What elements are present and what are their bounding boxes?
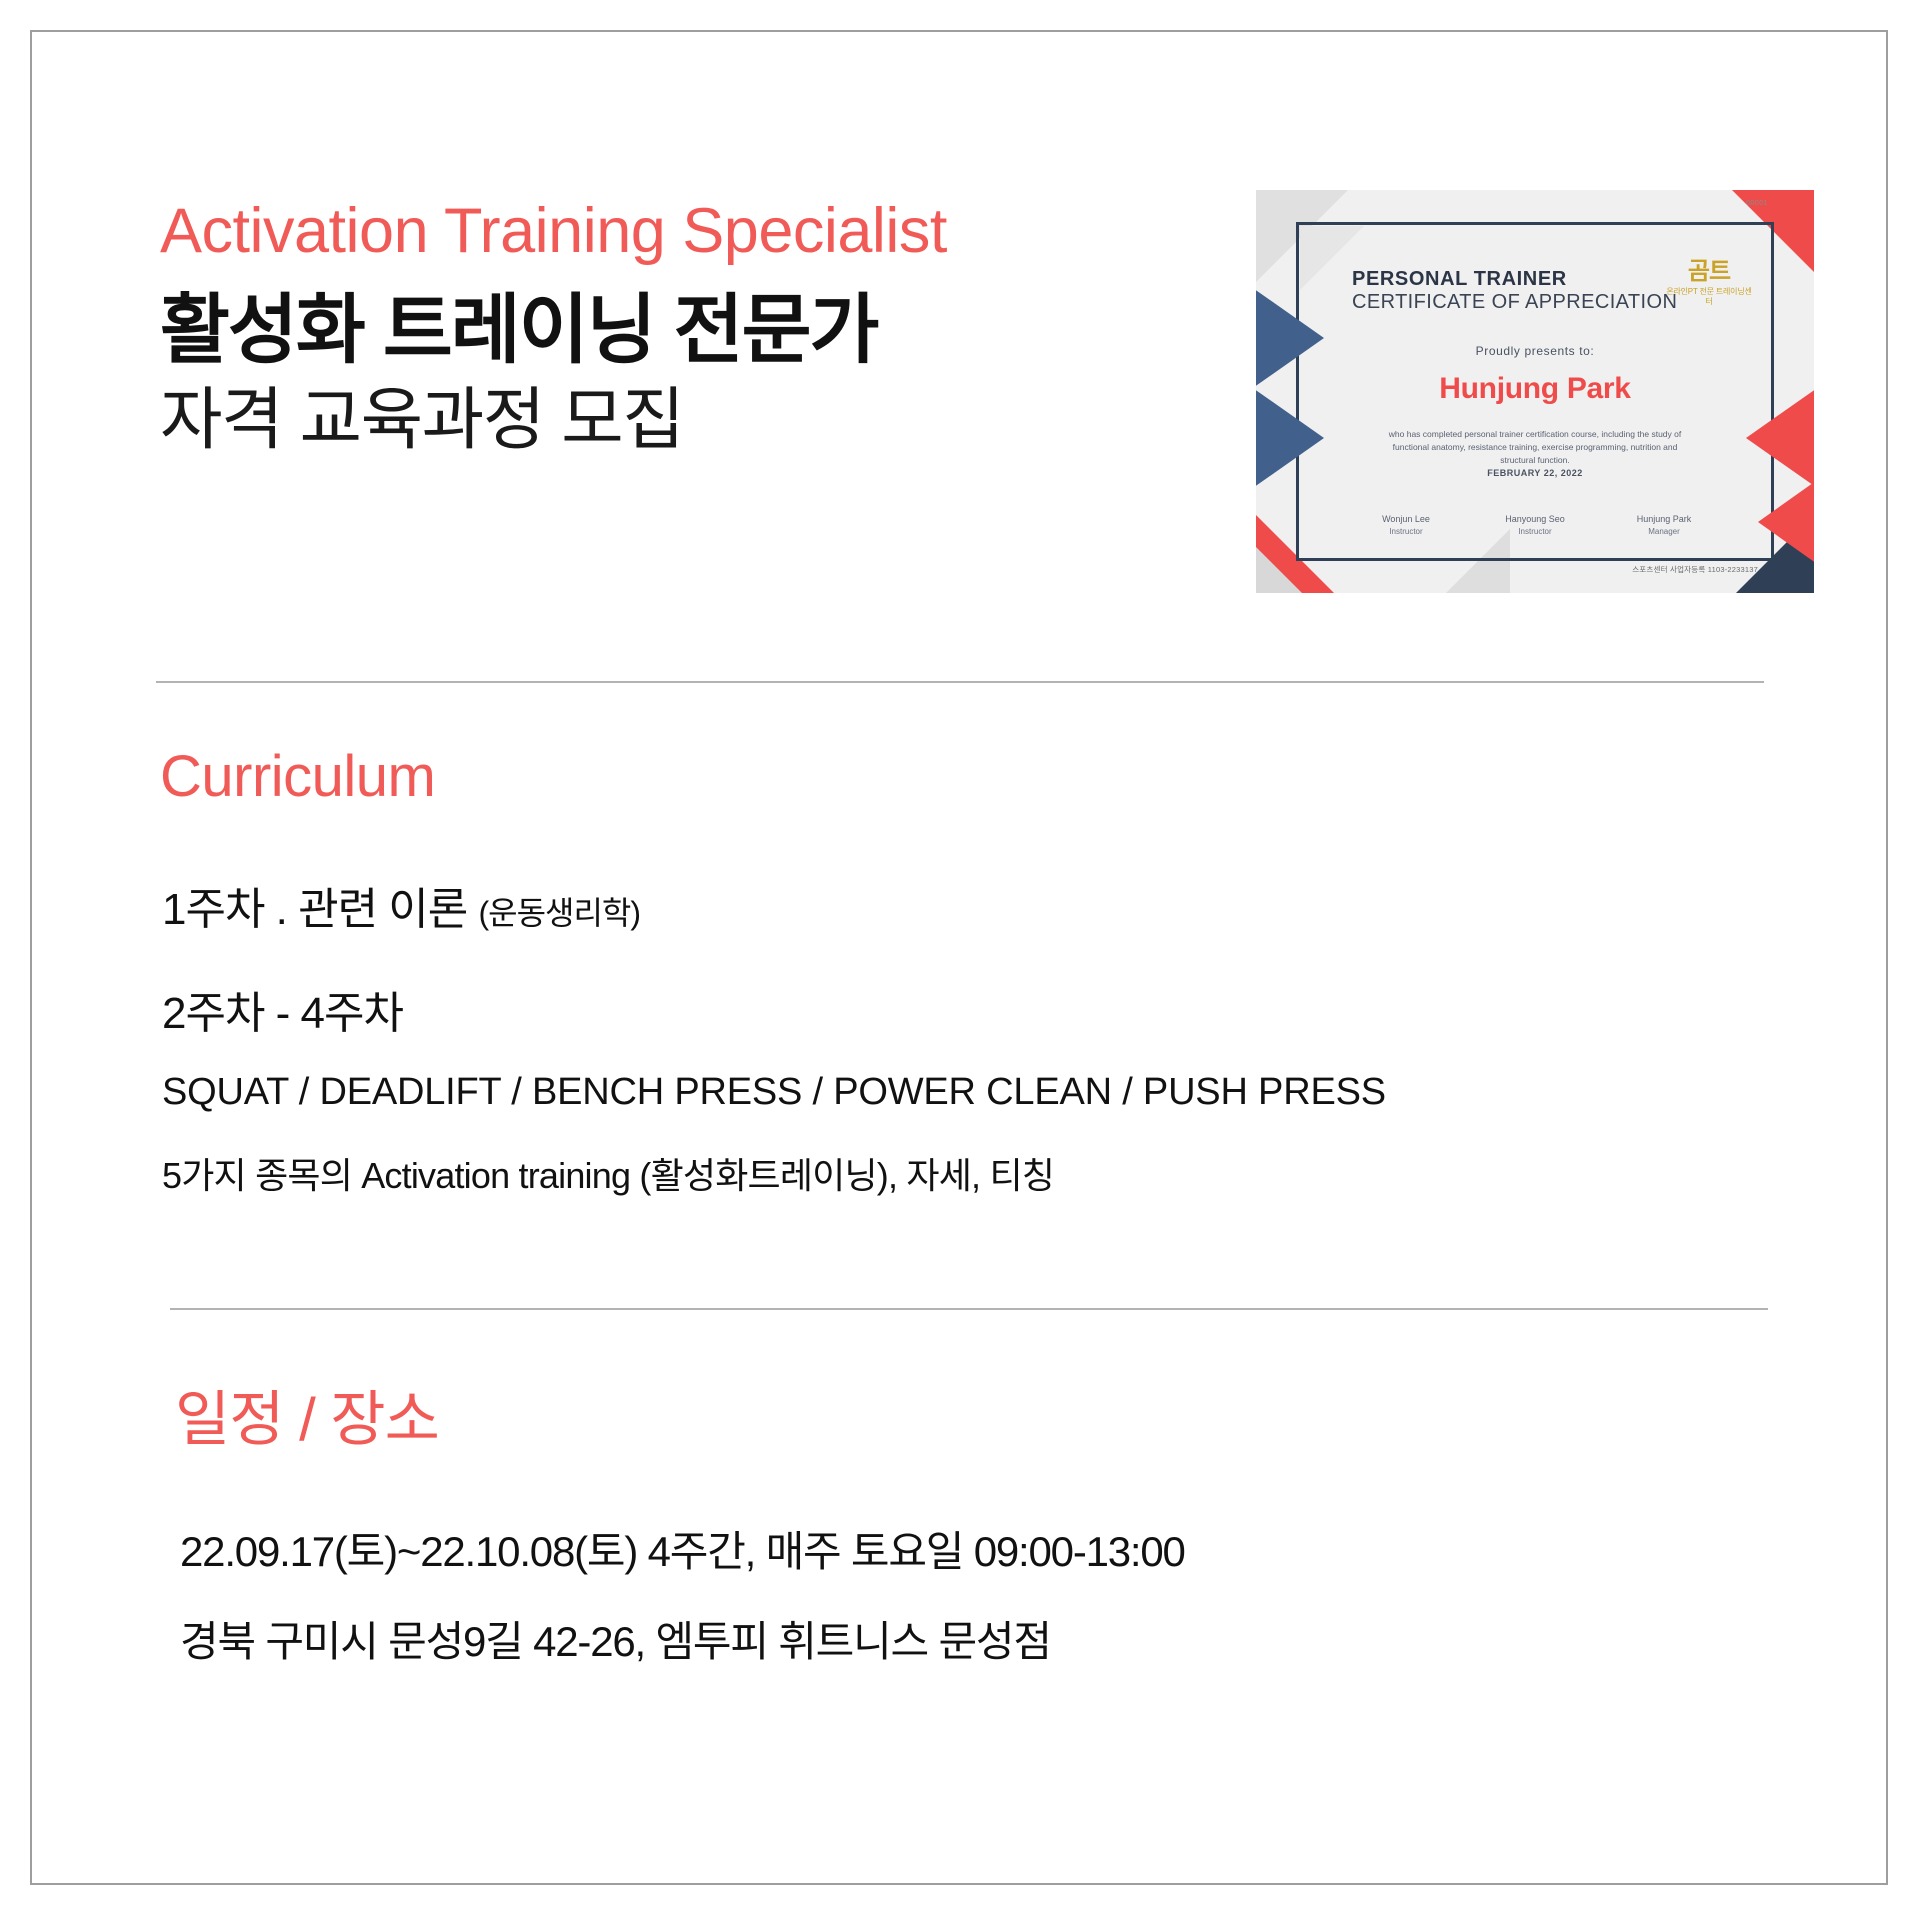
page-title-english: Activation Training Specialist bbox=[160, 200, 1160, 263]
certificate-body-text: who has completed personal trainer certi… bbox=[1376, 428, 1694, 466]
curriculum-week1-main: 1주차 . 관련 이론 bbox=[162, 885, 478, 934]
page-title-korean-sub: 자격 교육과정 모집 bbox=[160, 380, 1160, 460]
certificate-heading-line1: PERSONAL TRAINER bbox=[1352, 268, 1677, 291]
certificate-signature-row: Wonjun Lee Instructor Hanyoung Seo Instr… bbox=[1346, 512, 1724, 539]
curriculum-heading: Curriculum bbox=[160, 748, 435, 806]
certificate-signature: Hanyoung Seo Instructor bbox=[1475, 512, 1595, 539]
signature-name: Hanyoung Seo bbox=[1475, 512, 1595, 526]
poster-canvas: Activation Training Specialist 활성화 트레이닝 … bbox=[0, 0, 1920, 1920]
section-divider-bottom bbox=[170, 1308, 1768, 1310]
certificate-image: 00001 PERSONAL TRAINER CERTIFICATE OF AP… bbox=[1256, 190, 1814, 593]
schedule-heading: 일정 / 장소 bbox=[175, 1390, 439, 1450]
brand-logo-mark: 곰트 bbox=[1666, 260, 1752, 284]
signature-role: Instructor bbox=[1346, 526, 1466, 539]
brand-logo-subtext: 온라인PT 전문 트레이닝센터 bbox=[1666, 287, 1752, 306]
certificate-signature: Wonjun Lee Instructor bbox=[1346, 512, 1466, 539]
signature-name: Hunjung Park bbox=[1604, 512, 1724, 526]
curriculum-week1-paren: (운동생리학) bbox=[478, 895, 640, 931]
certificate-signature: Hunjung Park Manager bbox=[1604, 512, 1724, 539]
curriculum-lift-list: SQUAT / DEADLIFT / BENCH PRESS / POWER C… bbox=[162, 1071, 1386, 1114]
certificate-recipient-name: Hunjung Park bbox=[1256, 372, 1814, 406]
certificate-presents-label: Proudly presents to: bbox=[1256, 344, 1814, 358]
poster-header: Activation Training Specialist 활성화 트레이닝 … bbox=[160, 200, 1160, 460]
signature-role: Instructor bbox=[1475, 526, 1595, 539]
schedule-location-line: 경북 구미시 문성9길 42-26, 엠투피 휘트니스 문성점 bbox=[180, 1608, 1051, 1669]
certificate-content: 00001 PERSONAL TRAINER CERTIFICATE OF AP… bbox=[1256, 190, 1814, 593]
section-divider-top bbox=[156, 681, 1764, 683]
certificate-date: FEBRUARY 22, 2022 bbox=[1256, 468, 1814, 478]
certificate-footnote: 스포츠센터 사업자등록 1103-2233137 bbox=[1632, 564, 1758, 575]
curriculum-week1: 1주차 . 관련 이론 (운동생리학) bbox=[162, 873, 640, 937]
signature-name: Wonjun Lee bbox=[1346, 512, 1466, 526]
page-title-korean-main: 활성화 트레이닝 전문가 bbox=[160, 285, 1160, 378]
certificate-serial-number: 00001 bbox=[1746, 200, 1768, 207]
certificate-heading-block: PERSONAL TRAINER CERTIFICATE OF APPRECIA… bbox=[1352, 268, 1677, 314]
curriculum-detail: 5가지 종목의 Activation training (활성화트레이닝), 자… bbox=[162, 1147, 1054, 1199]
schedule-date-line: 22.09.17(토)~22.10.08(토) 4주간, 매주 토요일 09:0… bbox=[180, 1518, 1185, 1579]
curriculum-weeks-range: 2주차 - 4주차 bbox=[162, 977, 403, 1041]
certificate-heading-line2: CERTIFICATE OF APPRECIATION bbox=[1352, 291, 1677, 314]
certificate-logo: 곰트 온라인PT 전문 트레이닝센터 bbox=[1666, 260, 1752, 306]
signature-role: Manager bbox=[1604, 526, 1724, 539]
